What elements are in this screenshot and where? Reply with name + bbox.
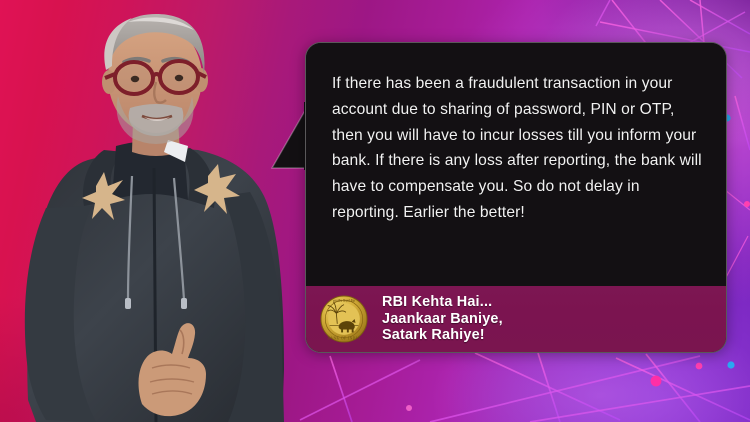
campaign-tagline: RBI Kehta Hai... Jaankaar Baniye, Satark… xyxy=(382,294,503,343)
speech-bubble: If there has been a fraudulent transacti… xyxy=(305,42,727,353)
poster-canvas: If there has been a fraudulent transacti… xyxy=(0,0,750,422)
rbi-emblem-icon: भारतीय रिज़र्व बैंक BANK OF INDIA xyxy=(320,295,368,343)
tagline-line-2: Jaankaar Baniye, xyxy=(382,311,503,327)
message-area: If there has been a fraudulent transacti… xyxy=(306,43,726,286)
svg-text:BANK OF INDIA: BANK OF INDIA xyxy=(328,337,361,341)
tagline-line-1: RBI Kehta Hai... xyxy=(382,294,503,310)
spokesperson-photo xyxy=(0,0,292,422)
tagline-line-3: Satark Rahiye! xyxy=(382,327,503,343)
svg-text:भारतीय रिज़र्व बैंक: भारतीय रिज़र्व बैंक xyxy=(333,298,356,303)
speech-bubble-body: If there has been a fraudulent transacti… xyxy=(305,42,727,353)
campaign-footer: भारतीय रिज़र्व बैंक BANK OF INDIA xyxy=(306,286,726,352)
awareness-message: If there has been a fraudulent transacti… xyxy=(332,71,704,226)
